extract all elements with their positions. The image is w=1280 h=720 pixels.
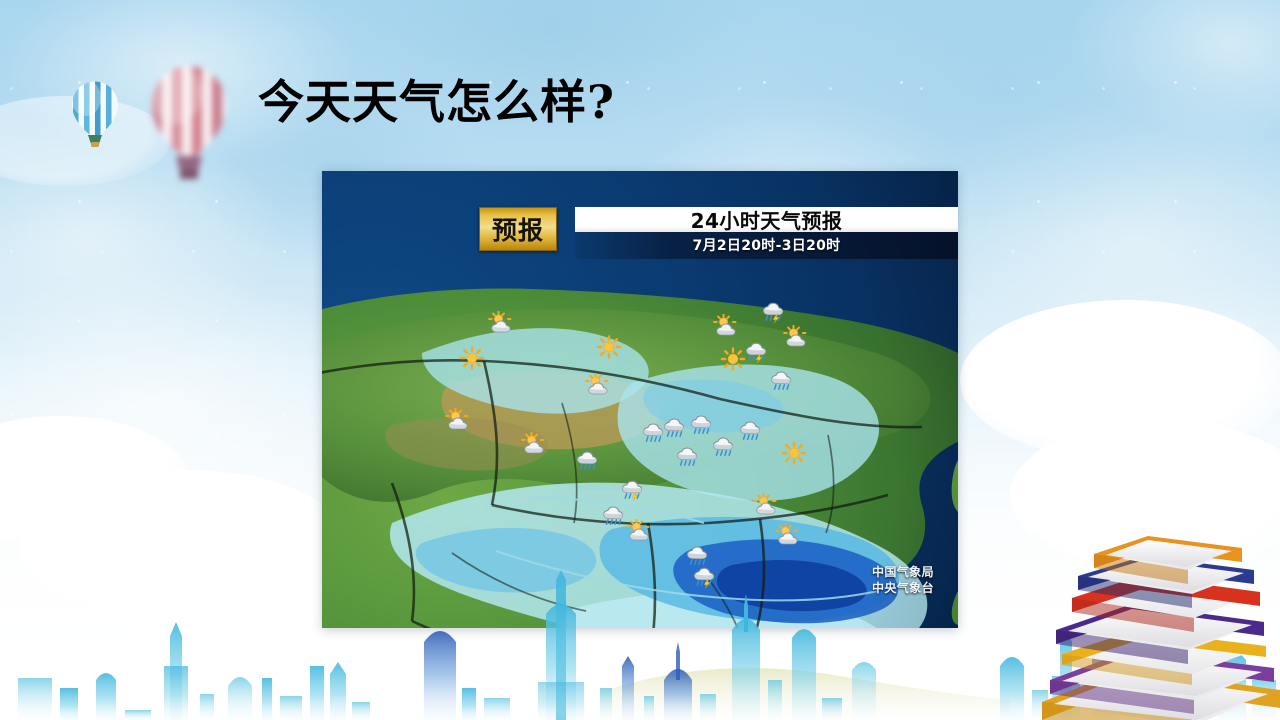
book-purple-upper	[1056, 604, 1264, 664]
sun-cloud-icon	[584, 373, 614, 397]
rain-cloud-icon	[684, 542, 714, 566]
sun-cloud-icon	[625, 519, 655, 543]
forecast-badge: 预报	[479, 207, 557, 251]
sun-icon	[718, 347, 748, 371]
map-headline: 24小时天气预报	[575, 205, 958, 233]
attribution-line-2: 中央气象台	[872, 580, 934, 596]
book-bottom	[1042, 668, 1280, 720]
cloud-shape	[1010, 420, 1280, 570]
rain-cloud-icon	[737, 417, 767, 441]
hot-air-balloon-blue	[68, 80, 122, 152]
sun-cloud-icon	[712, 314, 742, 338]
map-attribution: 中国气象局 中央气象台	[872, 564, 934, 596]
rain-cloud-icon	[674, 443, 704, 467]
book-stack	[1036, 464, 1280, 720]
weather-map-image: 24小时天气预报 7月2日20时-3日20时 预报 中国气象局 中央气象台	[322, 171, 958, 628]
rain-cloud-icon	[688, 411, 718, 435]
sun-cloud-icon	[774, 523, 804, 547]
rain-cloud-icon	[710, 433, 740, 457]
sun-icon	[457, 346, 487, 370]
rain-cloud-icon	[640, 419, 670, 443]
rain-cloud-icon	[574, 447, 604, 471]
book-orange-top	[1094, 536, 1242, 584]
hot-air-balloon-pink	[146, 64, 232, 180]
rain-cloud-icon	[768, 367, 798, 391]
thunder-cloud-icon	[760, 299, 790, 323]
slide-root: 今天天气怎么样?	[0, 0, 1280, 720]
thunder-cloud-icon	[619, 477, 649, 501]
thunder-cloud-icon	[691, 564, 721, 588]
book-red	[1072, 576, 1260, 632]
cloud-shape	[0, 96, 170, 186]
sun-cloud-icon	[487, 311, 517, 335]
cloud-shape	[0, 416, 190, 546]
book-gold	[1062, 630, 1266, 685]
map-period: 7月2日20时-3日20时	[575, 232, 958, 258]
book-purple-lower	[1050, 650, 1274, 714]
sun-cloud-icon	[782, 325, 812, 349]
cloud-shape	[960, 300, 1280, 460]
sun-icon	[594, 335, 624, 359]
sun-cloud-icon	[444, 408, 474, 432]
book-navy	[1078, 556, 1254, 608]
cloud-shape	[20, 470, 350, 620]
attribution-line-1: 中国气象局	[872, 564, 934, 580]
page-title: 今天天气怎么样?	[258, 76, 615, 129]
sun-cloud-icon	[520, 432, 550, 456]
sun-cloud-icon	[752, 493, 782, 517]
sun-icon	[779, 441, 809, 465]
